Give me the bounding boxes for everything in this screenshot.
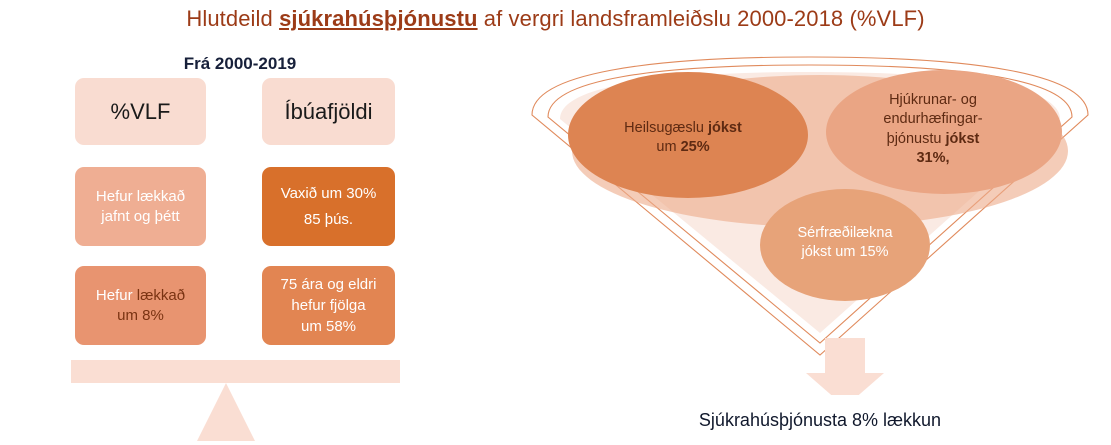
column-header-vlf: %VLF xyxy=(75,78,206,145)
column-header-ibuafjoldi-label: Íbúafjöldi xyxy=(284,97,372,126)
funnel-graphic xyxy=(520,55,1100,395)
vlf-fact-1-line1: Hefur lækkað xyxy=(96,188,185,205)
column-header-ibuafjoldi: Íbúafjöldi xyxy=(262,78,395,145)
ibua-fact-2-line2: hefur fjölga xyxy=(291,297,365,314)
column-header-vlf-label: %VLF xyxy=(111,97,171,126)
page-title: Hlutdeild sjúkrahúsþjónustu af vergri la… xyxy=(0,6,1111,32)
vlf-fact-2-line1-accent: lækkað xyxy=(137,287,185,304)
title-before: Hlutdeild xyxy=(186,6,279,31)
funnel-caption: Sjúkrahúsþjónusta 8% lækkun xyxy=(560,410,1080,431)
vlf-fact-2-line2-accent: um 8% xyxy=(117,307,164,324)
left-panel-heading: Frá 2000-2019 xyxy=(75,54,405,74)
ellipse-hjukrunar xyxy=(826,70,1062,194)
ibua-fact-1-line2: 85 þús. xyxy=(304,211,353,228)
ibua-fact-box-2: 75 ára og eldri hefur fjölga um 58% xyxy=(262,266,395,345)
title-emphasis: sjúkrahúsþjónustu xyxy=(279,6,478,31)
ellipse-serfraedilaekna xyxy=(760,189,930,301)
balance-beam xyxy=(71,360,400,383)
vlf-fact-1-line2: jafnt og þétt xyxy=(101,208,179,225)
vlf-fact-box-1: Hefur lækkað jafnt og þétt xyxy=(75,167,206,246)
title-after: af vergri landsframleiðslu 2000-2018 (%V… xyxy=(478,6,925,31)
funnel-diagram xyxy=(520,55,1100,395)
vlf-fact-box-2: Hefur lækkað um 8% xyxy=(75,266,206,345)
ibua-fact-2-line3: um 58% xyxy=(301,318,356,335)
vlf-fact-2-line1-plain: Hefur xyxy=(96,287,137,304)
ibua-fact-1-line1: Vaxið um 30% xyxy=(281,185,377,202)
balance-fulcrum-icon xyxy=(197,383,255,441)
down-arrow-icon xyxy=(806,338,884,395)
ibua-fact-2-line1: 75 ára og eldri xyxy=(281,276,377,293)
ibua-fact-box-1: Vaxið um 30% 85 þús. xyxy=(262,167,395,246)
ellipse-heilsugaeslu xyxy=(568,72,808,198)
